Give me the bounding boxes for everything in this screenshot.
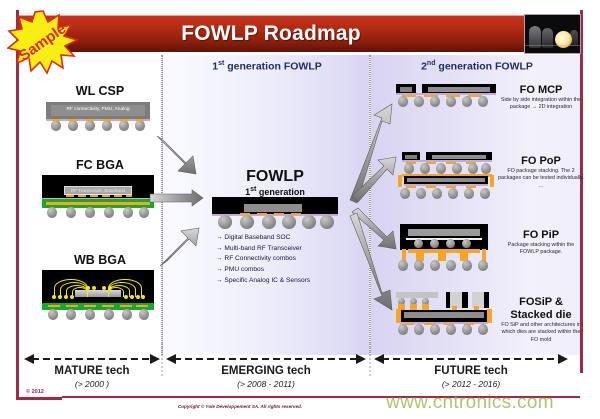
package-art-fc-bga: RF Transceiver, Baseband [42, 175, 154, 220]
center-sub-text: generation [256, 187, 305, 197]
package-title-fo-pop: FO PoP [500, 155, 582, 167]
package-title-fo-mcp: FO MCP [500, 84, 582, 96]
generation-2-label: 2nd generation FOWLP [382, 60, 572, 73]
timeline-years-future: (> 2012 - 2016) [374, 379, 568, 389]
sample-badge-label-wrap: Sample [7, 9, 79, 75]
fosip-title-line-1: FOSiP & [498, 296, 584, 309]
timeline-years-emerging: (> 2008 - 2011) [166, 379, 366, 389]
lightbulbs-photo [524, 14, 581, 54]
package-title-wb-bga: WB BGA [40, 253, 160, 267]
timeline-arrow-future [374, 354, 568, 364]
package-desc-fo-pop: FO package stacking. The 2 packages can … [498, 168, 584, 190]
package-title-wl-csp: WL CSP [40, 84, 160, 98]
fowlp-die [244, 204, 302, 212]
photo-horizon-line [525, 45, 581, 46]
copyright-notice: Copyright © Yole Développement SA. All r… [90, 404, 390, 409]
timeline-name-mature: MATURE tech [24, 365, 160, 377]
generation-1-label: 1st generation FOWLP [172, 60, 362, 73]
timeline-years-mature: (> 2000 ) [24, 379, 160, 389]
sample-starburst-badge: Sample [7, 9, 79, 75]
center-bullet-list: → Digital Baseband SOC → Multi-band RF T… [216, 233, 352, 286]
timeline-name-future: FUTURE tech [374, 365, 568, 377]
timeline-arrow-mature [24, 354, 160, 364]
package-art-fo-pip [396, 224, 496, 276]
center-bullet-item: → Multi-band RF Transceiver [216, 244, 352, 255]
package-art-fo-mcp [396, 84, 496, 124]
package-caption-wl-csp: RF connectivity, PMU, Analog [52, 107, 144, 113]
page-title: FOWLP Roadmap [181, 22, 361, 46]
package-caption-fc-bga: RF Transceiver, Baseband [66, 188, 130, 194]
package-title-fc-bga: FC BGA [40, 158, 160, 172]
slide-canvas: FOWLP Roadmap Sample 1st generation FOWL… [0, 0, 600, 419]
gen1-text: generation FOWLP [224, 61, 321, 73]
package-desc-fosip: FO SiP and other architectures in which … [498, 322, 584, 344]
package-desc-fo-mcp: Side by side integration within the pack… [498, 97, 584, 112]
package-title-fosip: FOSiP & Stacked die [498, 296, 584, 321]
timeline-name-emerging: EMERGING tech [166, 365, 366, 377]
fosip-title-line-2: Stacked die [498, 309, 584, 322]
package-art-fowlp [212, 197, 338, 232]
timeline-arrow-emerging [166, 354, 366, 364]
center-title-fowlp: FOWLP [205, 168, 345, 186]
package-art-wb-bga [42, 270, 154, 322]
sample-badge-label: Sample [16, 20, 69, 65]
package-desc-fo-pip: Package stacking within the FOWLP packag… [498, 242, 584, 257]
center-bullet-item: → Digital Baseband SOC [216, 233, 352, 244]
title-bar: FOWLP Roadmap [19, 15, 533, 52]
package-art-fo-pop [396, 152, 496, 204]
center-bullet-item: → RF Connectivity combos [216, 254, 352, 265]
center-bullet-item: → PMU combos [216, 265, 352, 276]
year-mark: © 2012 [26, 389, 44, 395]
package-art-fosip [396, 292, 496, 344]
gen2-text: generation FOWLP [435, 61, 532, 73]
frame-border-bottom-left [16, 397, 62, 400]
watermark-url: www.cntronics.com [350, 392, 590, 414]
center-bullet-item: → Specific Analog IC & Sensors [216, 276, 352, 287]
package-art-wl-csp: RF connectivity, PMU, Analog [46, 102, 150, 134]
center-subtitle-fowlp: 1st generation [205, 186, 345, 197]
package-title-fo-pip: FO PiP [500, 229, 582, 241]
